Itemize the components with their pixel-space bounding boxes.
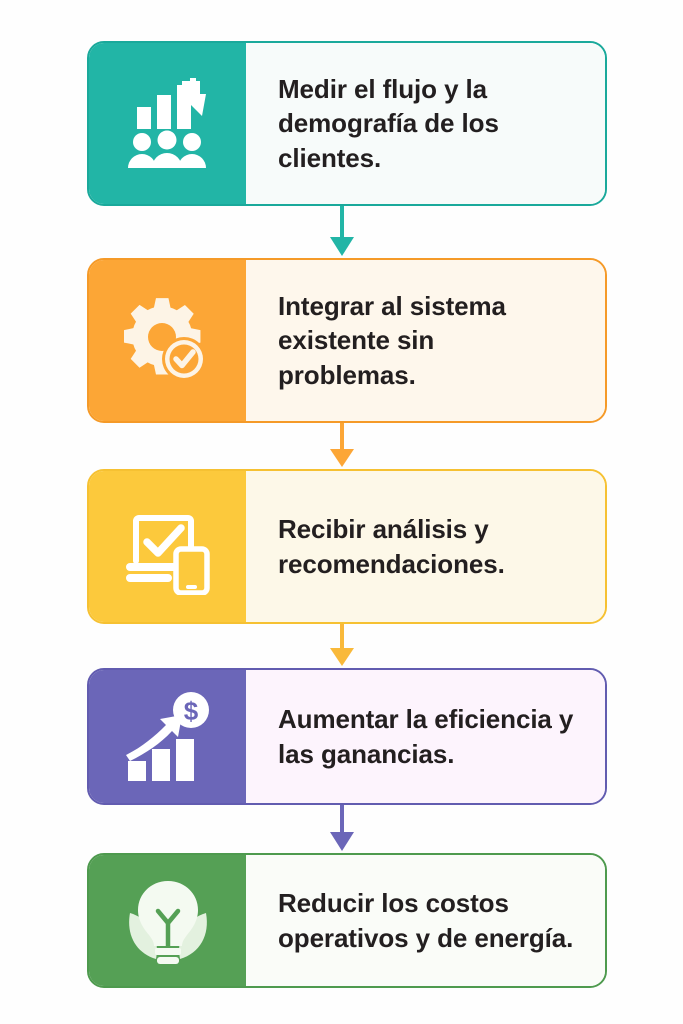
svg-text:$: $ <box>183 696 198 726</box>
step-label-1: Medir el flujo y la demografía de los cl… <box>278 72 579 176</box>
lightbulb-leaf-icon <box>120 873 216 969</box>
text-panel-step-4: Aumentar la eficiencia y las ganancias. <box>246 670 605 803</box>
laptop-phone-check-icon <box>120 499 216 595</box>
arrow-step4-to-step5 <box>0 805 683 853</box>
flow-step-3[interactable]: Recibir análisis y recomendaciones. <box>87 469 607 624</box>
text-panel-step-1: Medir el flujo y la demografía de los cl… <box>246 43 605 204</box>
step-label-3: Recibir análisis y recomendaciones. <box>278 512 579 581</box>
flow-step-2[interactable]: Integrar al sistema existente sin proble… <box>87 258 607 423</box>
step-label-5: Reducir los costos operativos y de energ… <box>278 886 579 955</box>
icon-panel-step-5 <box>89 855 246 986</box>
arrow-step1-to-step2 <box>0 206 683 258</box>
step-label-2: Integrar al sistema existente sin proble… <box>278 289 579 393</box>
icon-panel-step-3 <box>89 471 246 622</box>
flow-step-5[interactable]: Reducir los costos operativos y de energ… <box>87 853 607 988</box>
gear-check-icon <box>120 293 216 389</box>
profit-growth-dollar-icon-panel: $ <box>89 670 246 803</box>
icon-panel-step-2 <box>89 260 246 421</box>
step-label-4: Aumentar la eficiencia y las ganancias. <box>278 702 579 771</box>
flow-step-1[interactable]: Medir el flujo y la demografía de los cl… <box>87 41 607 206</box>
arrow-step3-to-step4 <box>0 624 683 668</box>
text-panel-step-3: Recibir análisis y recomendaciones. <box>246 471 605 622</box>
flow-step-4[interactable]: $ Aumentar la eficiencia y las ganancias… <box>87 668 607 805</box>
icon-panel-step-1 <box>89 43 246 204</box>
bar-chart-growth-people-icon <box>120 76 216 172</box>
text-panel-step-5: Reducir los costos operativos y de energ… <box>246 855 605 986</box>
text-panel-step-2: Integrar al sistema existente sin proble… <box>246 260 605 421</box>
arrow-step2-to-step3 <box>0 423 683 469</box>
profit-growth-dollar-icon: $ <box>120 689 216 785</box>
flowchart-container: Medir el flujo y la demografía de los cl… <box>0 0 683 1024</box>
